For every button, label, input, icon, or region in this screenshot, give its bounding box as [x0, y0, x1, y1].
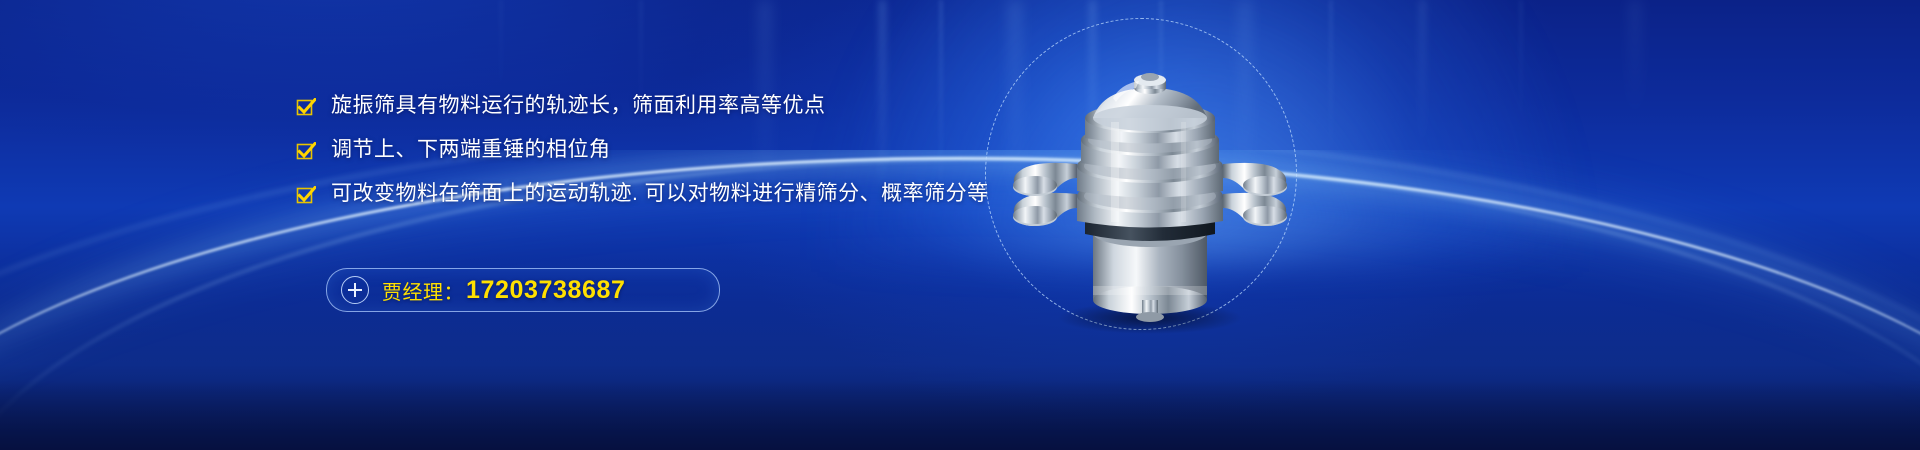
light-streak [1330, 0, 1332, 160]
feature-item-2: 调节上、下两端重锤的相位角 [296, 136, 1056, 164]
bottom-shadow [0, 380, 1920, 450]
feature-item-1: 旋振筛具有物料运行的轨迹长，筛面利用率高等优点 [296, 92, 1056, 120]
contact-phone-number: 17203738687 [466, 276, 626, 305]
checkmark-icon [296, 142, 316, 162]
feature-text: 旋振筛具有物料运行的轨迹长，筛面利用率高等优点 [331, 92, 826, 120]
promo-banner: 旋振筛具有物料运行的轨迹长，筛面利用率高等优点 调节上、下两端重锤的相位角 可改… [0, 0, 1920, 450]
feature-text: 调节上、下两端重锤的相位角 [331, 136, 611, 164]
checkmark-icon [296, 186, 316, 206]
light-streak [1520, 0, 1522, 130]
feature-text: 可改变物料在筛面上的运动轨迹. 可以对物料进行精筛分、概率筛分等 [331, 180, 989, 208]
checkmark-icon [296, 98, 316, 118]
plus-circle-icon [341, 276, 369, 304]
contact-phone-button[interactable]: 贾经理： 17203738687 [326, 268, 720, 312]
light-streak [1630, 0, 1640, 120]
feature-list: 旋振筛具有物料运行的轨迹长，筛面利用率高等优点 调节上、下两端重锤的相位角 可改… [296, 92, 1056, 224]
light-streak [500, 0, 502, 100]
light-streak [1420, 0, 1425, 150]
contact-name-label: 贾经理： [382, 276, 464, 305]
feature-item-3: 可改变物料在筛面上的运动轨迹. 可以对物料进行精筛分、概率筛分等 [296, 180, 1056, 208]
